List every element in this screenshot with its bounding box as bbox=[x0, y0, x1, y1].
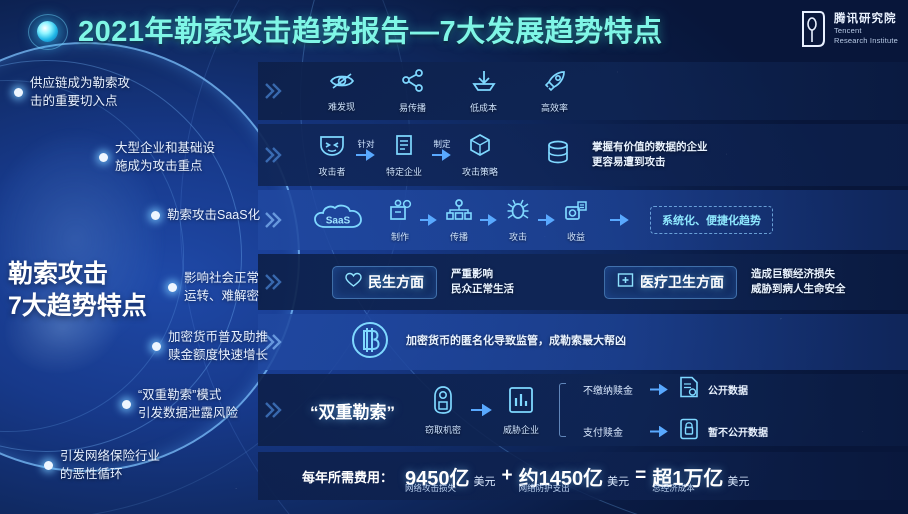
logo-name-en-line2: Research Institute bbox=[834, 36, 898, 46]
sidebar-item-3[interactable]: 勒索攻击SaaS化 bbox=[151, 207, 260, 225]
icon-caption: 收益 bbox=[567, 230, 585, 243]
cube-strategy-icon bbox=[468, 133, 492, 162]
cost-operator-equals: = bbox=[635, 465, 646, 487]
sidebar-item-2[interactable]: 大型企业和基础设施成为攻击重点 bbox=[99, 140, 215, 176]
arrow-right-icon bbox=[471, 404, 493, 416]
icon-block-steal-secrets: 窃取机密 bbox=[425, 385, 461, 436]
spread-network-icon bbox=[446, 198, 472, 227]
note-livelihood: 严重影响 民众正常生活 bbox=[451, 267, 514, 297]
row-social-impact: 民生方面 严重影响 民众正常生活 医疗卫生方面 造成巨额经济损失 威胁到病人生命… bbox=[258, 254, 908, 310]
sidebar-item-5-label: 加密货币普及助推赎金额度快速增长 bbox=[168, 329, 268, 365]
hacker-steal-icon bbox=[430, 385, 456, 420]
branch-condition: 支付赎金 bbox=[583, 424, 641, 439]
icon-caption: 传播 bbox=[450, 230, 468, 243]
production-icon bbox=[388, 198, 412, 227]
icon-block-easy-to-spread: 易传播 bbox=[399, 69, 426, 114]
cost-lead-label: 每年所需费用： bbox=[302, 467, 393, 486]
arrow-right-icon bbox=[356, 149, 376, 161]
row-enterprise-target: 攻击者 针对 特定企业 制定 bbox=[258, 124, 908, 186]
cost-item-attack-loss: 9450亿 美元 网络攻击损失 bbox=[405, 462, 496, 491]
sidebar-item-5[interactable]: 加密货币普及助推赎金额度快速增长 bbox=[152, 329, 268, 365]
pill-healthcare[interactable]: 医疗卫生方面 bbox=[604, 266, 737, 299]
icon-caption: 易传播 bbox=[399, 101, 426, 114]
sidebar-item-6-label: “双重勒索”模式引发数据泄露风险 bbox=[138, 387, 238, 423]
icon-caption: 窃取机密 bbox=[425, 423, 461, 436]
icon-caption: 高效率 bbox=[541, 101, 568, 114]
page-title: 2021年勒索攻击趋势报告—7大发展趋势特点 bbox=[78, 8, 663, 50]
trend-rows-container: 难发现 易传播 低成本 bbox=[258, 62, 908, 452]
cost-unit: 美元 bbox=[607, 473, 629, 489]
branch-bracket bbox=[559, 383, 566, 437]
icon-caption: 难发现 bbox=[328, 100, 355, 113]
icon-block-high-efficiency: 高效率 bbox=[541, 69, 568, 114]
arrow-right-icon bbox=[420, 214, 438, 226]
sidebar-item-7[interactable]: 引发网络保险行业的恶性循环 bbox=[44, 448, 160, 484]
cost-item-total: 超1万亿 美元 总经济成本 bbox=[652, 462, 749, 491]
branch-paid: 支付赎金 暂不公开数据 bbox=[583, 418, 768, 445]
row-note-enterprise: 掌握有价值的数据的企业 更容易遭到攻击 bbox=[592, 140, 708, 170]
icon-caption: 攻击 bbox=[509, 230, 527, 243]
arrow-formulating: 制定 bbox=[432, 149, 452, 161]
branch-outcomes: 不缴纳赎金 公开数据 支付赎金 暂不公开数据 bbox=[583, 376, 768, 445]
chart-threat-icon bbox=[507, 385, 535, 420]
branch-result: 暂不公开数据 bbox=[708, 424, 768, 439]
bullet-dot-icon bbox=[99, 153, 108, 162]
mask-attacker-icon bbox=[318, 133, 346, 162]
sidebar-item-2-label: 大型企业和基础设施成为攻击重点 bbox=[115, 140, 215, 176]
arrow-targeting: 针对 bbox=[356, 149, 376, 161]
cost-operator-plus: + bbox=[502, 465, 513, 487]
pill-livelihood[interactable]: 民生方面 bbox=[332, 266, 437, 299]
bullet-dot-icon bbox=[152, 342, 161, 351]
tencent-research-institute-logo: 腾讯研究院 Tencent Research Institute bbox=[800, 9, 898, 49]
icon-block-attack: 攻击 bbox=[506, 198, 530, 243]
arrow-label: 针对 bbox=[357, 138, 374, 150]
glowing-orb-icon bbox=[28, 14, 68, 50]
saas-cloud-icon: SaaS bbox=[312, 203, 364, 238]
row-saas: SaaS 制作 传播 bbox=[258, 190, 908, 250]
heart-hand-icon bbox=[345, 272, 362, 293]
icon-block-attacker: 攻击者 bbox=[318, 133, 346, 178]
building-icon bbox=[392, 133, 416, 162]
eye-slash-icon bbox=[329, 70, 355, 97]
sidebar-item-1-label: 供应链成为勒索攻击的重要切入点 bbox=[30, 75, 130, 111]
branch-no-payment: 不缴纳赎金 公开数据 bbox=[583, 376, 768, 403]
arrow-right-icon bbox=[650, 384, 670, 395]
cost-unit: 美元 bbox=[727, 473, 749, 489]
trend-list-sidebar: 供应链成为勒索攻击的重要切入点 大型企业和基础设施成为攻击重点 勒索攻击SaaS… bbox=[0, 0, 280, 514]
icon-caption: 制作 bbox=[391, 230, 409, 243]
arrow-right-icon bbox=[432, 149, 452, 161]
icon-block-hard-to-detect: 难发现 bbox=[328, 70, 355, 113]
bug-attack-icon bbox=[506, 198, 530, 227]
sidebar-item-4[interactable]: 影响社会正常运转、难解密 bbox=[168, 270, 259, 306]
download-tray-icon bbox=[471, 69, 497, 98]
arrow-right-icon bbox=[610, 214, 630, 226]
note-crypto: 加密货币的匿名化导致监管，成勒索最大帮凶 bbox=[406, 334, 626, 350]
database-icon bbox=[544, 139, 572, 172]
trend-tag-systematic: 系统化、便捷化趋势 bbox=[650, 206, 773, 234]
lock-document-icon bbox=[679, 418, 699, 445]
icon-block-specific-enterprise: 特定企业 bbox=[386, 133, 422, 178]
cost-sublabel: 网络攻击损失 bbox=[405, 482, 456, 494]
branch-result: 公开数据 bbox=[708, 382, 748, 397]
cost-unit: 美元 bbox=[474, 473, 496, 489]
icon-caption: 威胁企业 bbox=[503, 423, 539, 436]
sidebar-item-6[interactable]: “双重勒索”模式引发数据泄露风险 bbox=[122, 387, 238, 423]
share-nodes-icon bbox=[401, 69, 425, 98]
page-header: 2021年勒索攻击趋势报告—7大发展趋势特点 腾讯研究院 Tencent Res… bbox=[0, 0, 908, 62]
icon-block-low-cost: 低成本 bbox=[470, 69, 497, 114]
icon-block-attack-strategy: 攻击策略 bbox=[462, 133, 498, 178]
infographic-root: 2021年勒索攻击趋势报告—7大发展趋势特点 腾讯研究院 Tencent Res… bbox=[0, 0, 908, 514]
icon-caption: 特定企业 bbox=[386, 165, 422, 178]
icon-block-production: 制作 bbox=[388, 198, 412, 243]
icon-block-threaten-enterprise: 威胁企业 bbox=[503, 385, 539, 436]
rocket-icon bbox=[543, 69, 567, 98]
sidebar-item-7-label: 引发网络保险行业的恶性循环 bbox=[60, 448, 160, 484]
arrow-right-icon bbox=[538, 214, 556, 226]
icon-block-spread: 传播 bbox=[446, 198, 472, 243]
double-extortion-title: “双重勒索” bbox=[310, 398, 395, 423]
note-healthcare: 造成巨额经济损失 威胁到病人生命安全 bbox=[751, 267, 846, 297]
cost-item-defense-spend: 约1450亿 美元 网络防护支出 bbox=[519, 462, 630, 491]
annual-cost-summary: 每年所需费用： 9450亿 美元 网络攻击损失 + 约1450亿 美元 网络防护… bbox=[258, 452, 908, 500]
bullet-dot-icon bbox=[14, 88, 23, 97]
saas-label: SaaS bbox=[326, 216, 350, 227]
hospital-icon bbox=[617, 272, 634, 293]
pill-label: 民生方面 bbox=[368, 272, 424, 292]
bitcoin-icon bbox=[350, 320, 390, 365]
arrow-right-icon bbox=[480, 214, 498, 226]
branch-condition: 不缴纳赎金 bbox=[583, 382, 641, 397]
cost-sublabel: 总经济成本 bbox=[652, 482, 695, 494]
tencent-penguin-logo-icon bbox=[800, 9, 826, 49]
row-double-extortion: “双重勒索” 窃取机密 威胁企业 不缴纳赎金 bbox=[258, 374, 908, 446]
sidebar-item-1[interactable]: 供应链成为勒索攻击的重要切入点 bbox=[14, 75, 130, 111]
icon-caption: 攻击者 bbox=[318, 165, 345, 178]
money-profit-icon bbox=[564, 198, 588, 227]
document-leak-icon bbox=[679, 376, 699, 403]
sidebar-item-3-label: 勒索攻击SaaS化 bbox=[167, 207, 260, 225]
icon-block-profit: 收益 bbox=[564, 198, 588, 243]
bullet-dot-icon bbox=[151, 211, 160, 220]
bullet-dot-icon bbox=[122, 400, 131, 409]
cost-sublabel: 网络防护支出 bbox=[519, 482, 570, 494]
pill-label: 医疗卫生方面 bbox=[640, 272, 724, 292]
logo-name-en-line1: Tencent bbox=[834, 26, 898, 36]
icon-caption: 低成本 bbox=[470, 101, 497, 114]
sidebar-item-4-label: 影响社会正常运转、难解密 bbox=[184, 270, 259, 306]
arrow-right-icon bbox=[650, 426, 670, 437]
row-crypto: 加密货币的匿名化导致监管，成勒索最大帮凶 bbox=[258, 314, 908, 370]
arrow-label: 制定 bbox=[434, 138, 451, 150]
icon-caption: 攻击策略 bbox=[462, 165, 498, 178]
row-supply-chain: 难发现 易传播 低成本 bbox=[258, 62, 908, 120]
logo-name-cn: 腾讯研究院 bbox=[834, 12, 898, 26]
bullet-dot-icon bbox=[44, 461, 53, 470]
bullet-dot-icon bbox=[168, 283, 177, 292]
